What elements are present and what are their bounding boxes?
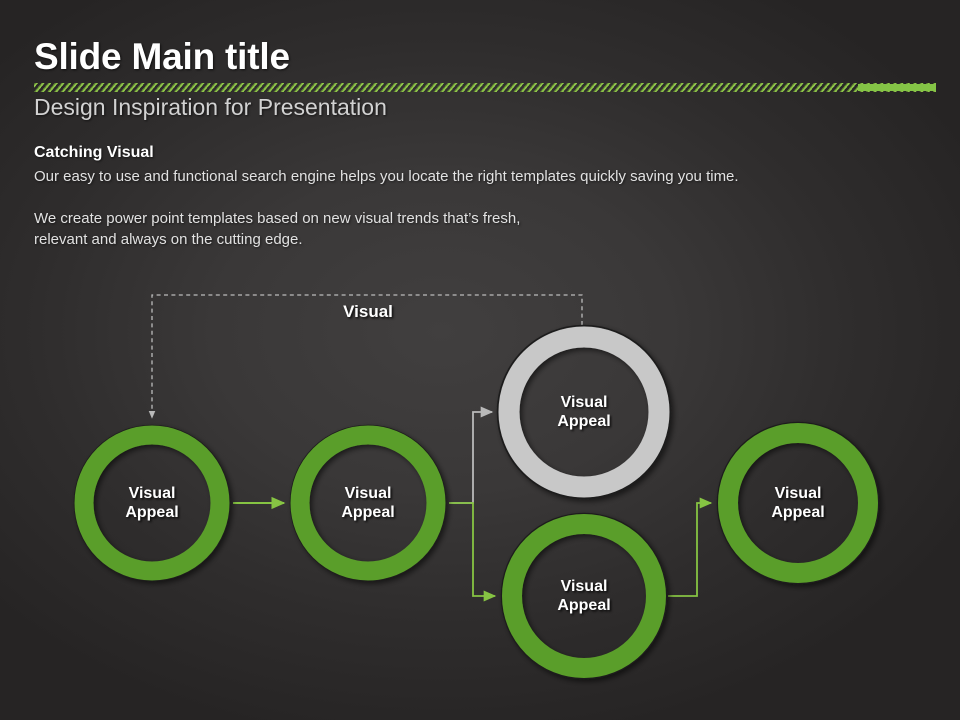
connector-node2-node4 (449, 503, 495, 596)
connector-node2-node3 (449, 412, 492, 503)
diagram-node-4[interactable] (502, 514, 667, 679)
diagram-node-2[interactable] (291, 426, 446, 581)
connector-node4-node5 (668, 503, 711, 596)
diagram-graphics (0, 0, 960, 720)
diagram-node-1[interactable] (75, 426, 230, 581)
diagram-node-5[interactable] (718, 423, 879, 584)
diagram-flow-label: Visual (316, 302, 420, 322)
diagram-node-3[interactable] (498, 326, 671, 499)
slide-canvas: Slide Main title Design Inspiration for … (0, 0, 960, 720)
process-diagram: Visual Appeal Visual Appeal Visual Appea… (0, 0, 960, 720)
